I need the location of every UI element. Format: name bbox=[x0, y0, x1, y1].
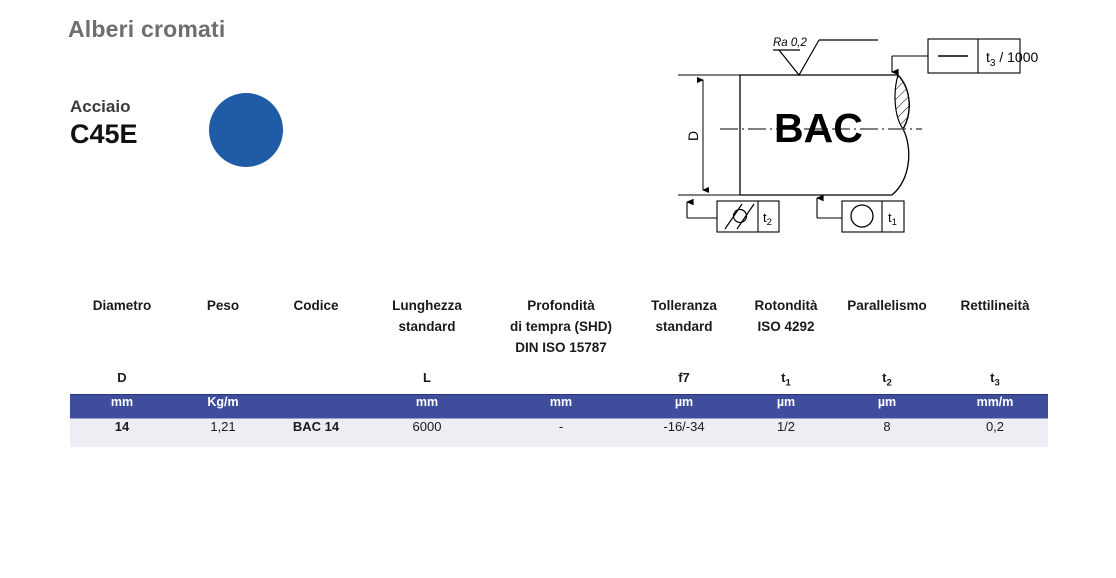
material-color-swatch bbox=[209, 93, 283, 167]
table-row[interactable]: 14 1,21 BAC 14 6000 - -16/-34 1/2 8 0,2 bbox=[70, 418, 1048, 447]
table-header-row: Diametro Peso Codice Lunghezza standard … bbox=[70, 296, 1048, 370]
section-hatch bbox=[895, 75, 909, 129]
cell-peso: 1,21 bbox=[174, 418, 272, 447]
symbol-peso bbox=[174, 370, 272, 394]
symbol-tolleranza: f7 bbox=[628, 370, 740, 394]
symbol-lunghezza: L bbox=[360, 370, 494, 394]
unit-rettilineita: mm/m bbox=[942, 394, 1048, 418]
col-header-tolleranza: Tolleranza standard bbox=[628, 296, 740, 370]
cell-lunghezza: 6000 bbox=[360, 418, 494, 447]
cell-tolleranza: -16/-34 bbox=[628, 418, 740, 447]
page-title: Alberi cromati bbox=[68, 16, 225, 43]
col-header-diametro: Diametro bbox=[70, 296, 174, 370]
product-spec-page: Alberi cromati Acciaio C45E bbox=[0, 0, 1116, 578]
symbol-codice bbox=[272, 370, 360, 394]
col-header-rettilineita: Rettilineità bbox=[942, 296, 1048, 370]
material-kind-label: Acciaio bbox=[70, 98, 138, 117]
col-header-rotondita: Rotondità ISO 4292 bbox=[740, 296, 832, 370]
cell-rotondita: 1/2 bbox=[740, 418, 832, 447]
specification-table: Diametro Peso Codice Lunghezza standard … bbox=[70, 296, 1048, 447]
col-header-peso: Peso bbox=[174, 296, 272, 370]
unit-rotondita: µm bbox=[740, 394, 832, 418]
cell-codice: BAC 14 bbox=[272, 418, 360, 447]
material-block: Acciaio C45E bbox=[70, 98, 138, 150]
col-header-codice: Codice bbox=[272, 296, 360, 370]
symbol-parallelismo: t2 bbox=[832, 370, 942, 394]
technical-drawing: BAC D Ra 0,2 bbox=[660, 28, 1060, 233]
part-label: BAC bbox=[774, 105, 863, 151]
symbol-rettilineita: t3 bbox=[942, 370, 1048, 394]
col-header-profondita-tempra: Profondità di tempra (SHD) DIN ISO 15787 bbox=[494, 296, 628, 370]
surface-finish-label: Ra 0,2 bbox=[773, 37, 807, 49]
table-unit-row: mm Kg/m mm mm µm µm µm mm/m bbox=[70, 394, 1048, 418]
col-header-lunghezza: Lunghezza standard bbox=[360, 296, 494, 370]
col-header-parallelismo: Parallelismo bbox=[832, 296, 942, 370]
symbol-diametro: D bbox=[70, 370, 174, 394]
diameter-symbol-label: D bbox=[685, 131, 701, 141]
unit-diametro: mm bbox=[70, 394, 174, 418]
cell-profondita: - bbox=[494, 418, 628, 447]
table-symbol-row: D L f7 t1 t2 t3 bbox=[70, 370, 1048, 394]
symbol-rotondita: t1 bbox=[740, 370, 832, 394]
cell-parallelismo: 8 bbox=[832, 418, 942, 447]
symbol-profondita bbox=[494, 370, 628, 394]
unit-lunghezza: mm bbox=[360, 394, 494, 418]
unit-peso: Kg/m bbox=[174, 394, 272, 418]
cell-diametro: 14 bbox=[70, 418, 174, 447]
material-grade-label: C45E bbox=[70, 119, 138, 150]
unit-profondita: mm bbox=[494, 394, 628, 418]
unit-tolleranza: µm bbox=[628, 394, 740, 418]
cell-rettilineita: 0,2 bbox=[942, 418, 1048, 447]
unit-parallelismo: µm bbox=[832, 394, 942, 418]
unit-codice bbox=[272, 394, 360, 418]
